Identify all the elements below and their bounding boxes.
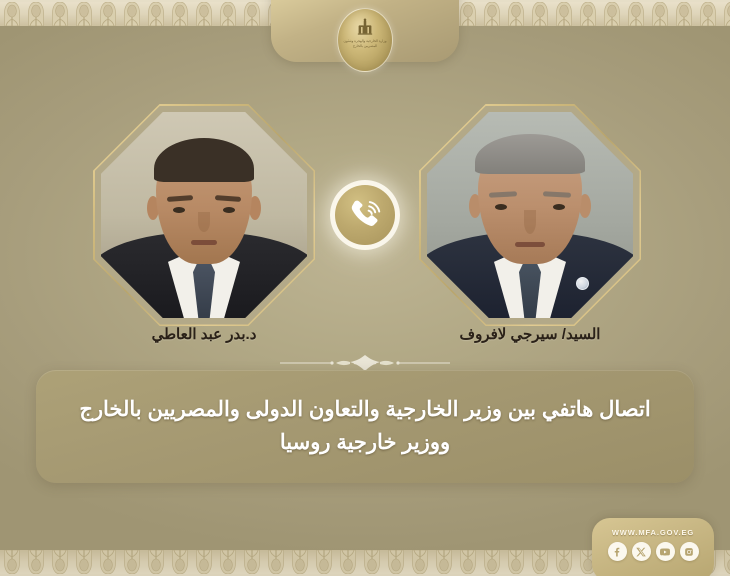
website-url[interactable]: WWW.MFA.GOV.EG — [612, 528, 694, 537]
x-twitter-icon[interactable] — [632, 542, 651, 561]
footer-contact-badge: WWW.MFA.GOV.EG — [592, 518, 714, 576]
lapel-pin-icon — [576, 277, 589, 290]
person-name-left: د.بدر عبد العاطي — [101, 325, 307, 343]
announcement-card: وزارة الخارجية والهجرة وشئون المصريين با… — [0, 0, 730, 576]
phone-call-icon — [330, 180, 400, 250]
caption-text: اتصال هاتفي بين وزير الخارجية والتعاون ا… — [62, 394, 668, 459]
facebook-icon[interactable] — [608, 542, 627, 561]
portrait-frame-right — [427, 112, 633, 318]
instagram-icon[interactable] — [680, 542, 699, 561]
youtube-icon[interactable] — [656, 542, 675, 561]
person-name-right: السيد/ سيرجي لافروف — [427, 325, 633, 343]
eagle-crest-icon — [357, 18, 373, 36]
social-links — [608, 542, 699, 561]
emblem-caption: وزارة الخارجية والهجرة وشئون المصريين با… — [341, 39, 389, 48]
caption-box: اتصال هاتفي بين وزير الخارجية والتعاون ا… — [36, 370, 694, 483]
ministry-emblem: وزارة الخارجية والهجرة وشئون المصريين با… — [337, 8, 393, 72]
portrait-frame-left — [101, 112, 307, 318]
